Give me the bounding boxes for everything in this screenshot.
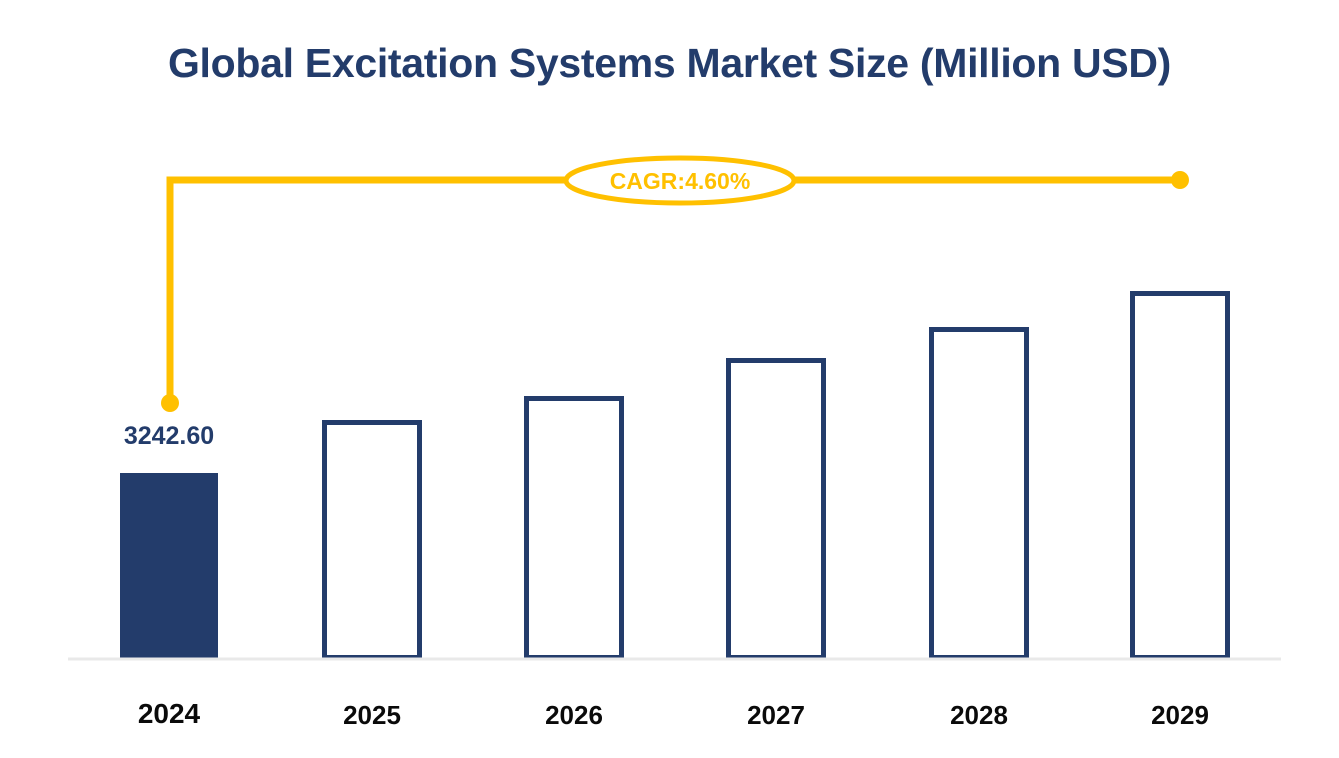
cagr-start-dot	[161, 394, 179, 412]
cagr-end-dot	[1171, 171, 1189, 189]
bar-2027[interactable]	[729, 361, 824, 658]
bar-2026[interactable]	[527, 399, 622, 658]
cagr-connector	[161, 171, 1189, 412]
chart-canvas: Global Excitation Systems Market Size (M…	[0, 0, 1339, 758]
plot-area	[0, 0, 1339, 758]
bar-group	[120, 294, 1228, 659]
category-label-2025: 2025	[302, 700, 442, 731]
cagr-label: CAGR:4.60%	[566, 168, 794, 195]
category-label-2026: 2026	[504, 700, 644, 731]
bar-2025[interactable]	[325, 423, 420, 658]
category-label-2024: 2024	[99, 698, 239, 730]
bar-2029[interactable]	[1133, 294, 1228, 658]
category-label-2028: 2028	[909, 700, 1049, 731]
bar-2028[interactable]	[932, 330, 1027, 658]
category-label-2027: 2027	[706, 700, 846, 731]
bar-2024[interactable]	[120, 473, 218, 658]
category-label-2029: 2029	[1110, 700, 1250, 731]
bar-value-label-2024: 3242.60	[99, 422, 239, 451]
